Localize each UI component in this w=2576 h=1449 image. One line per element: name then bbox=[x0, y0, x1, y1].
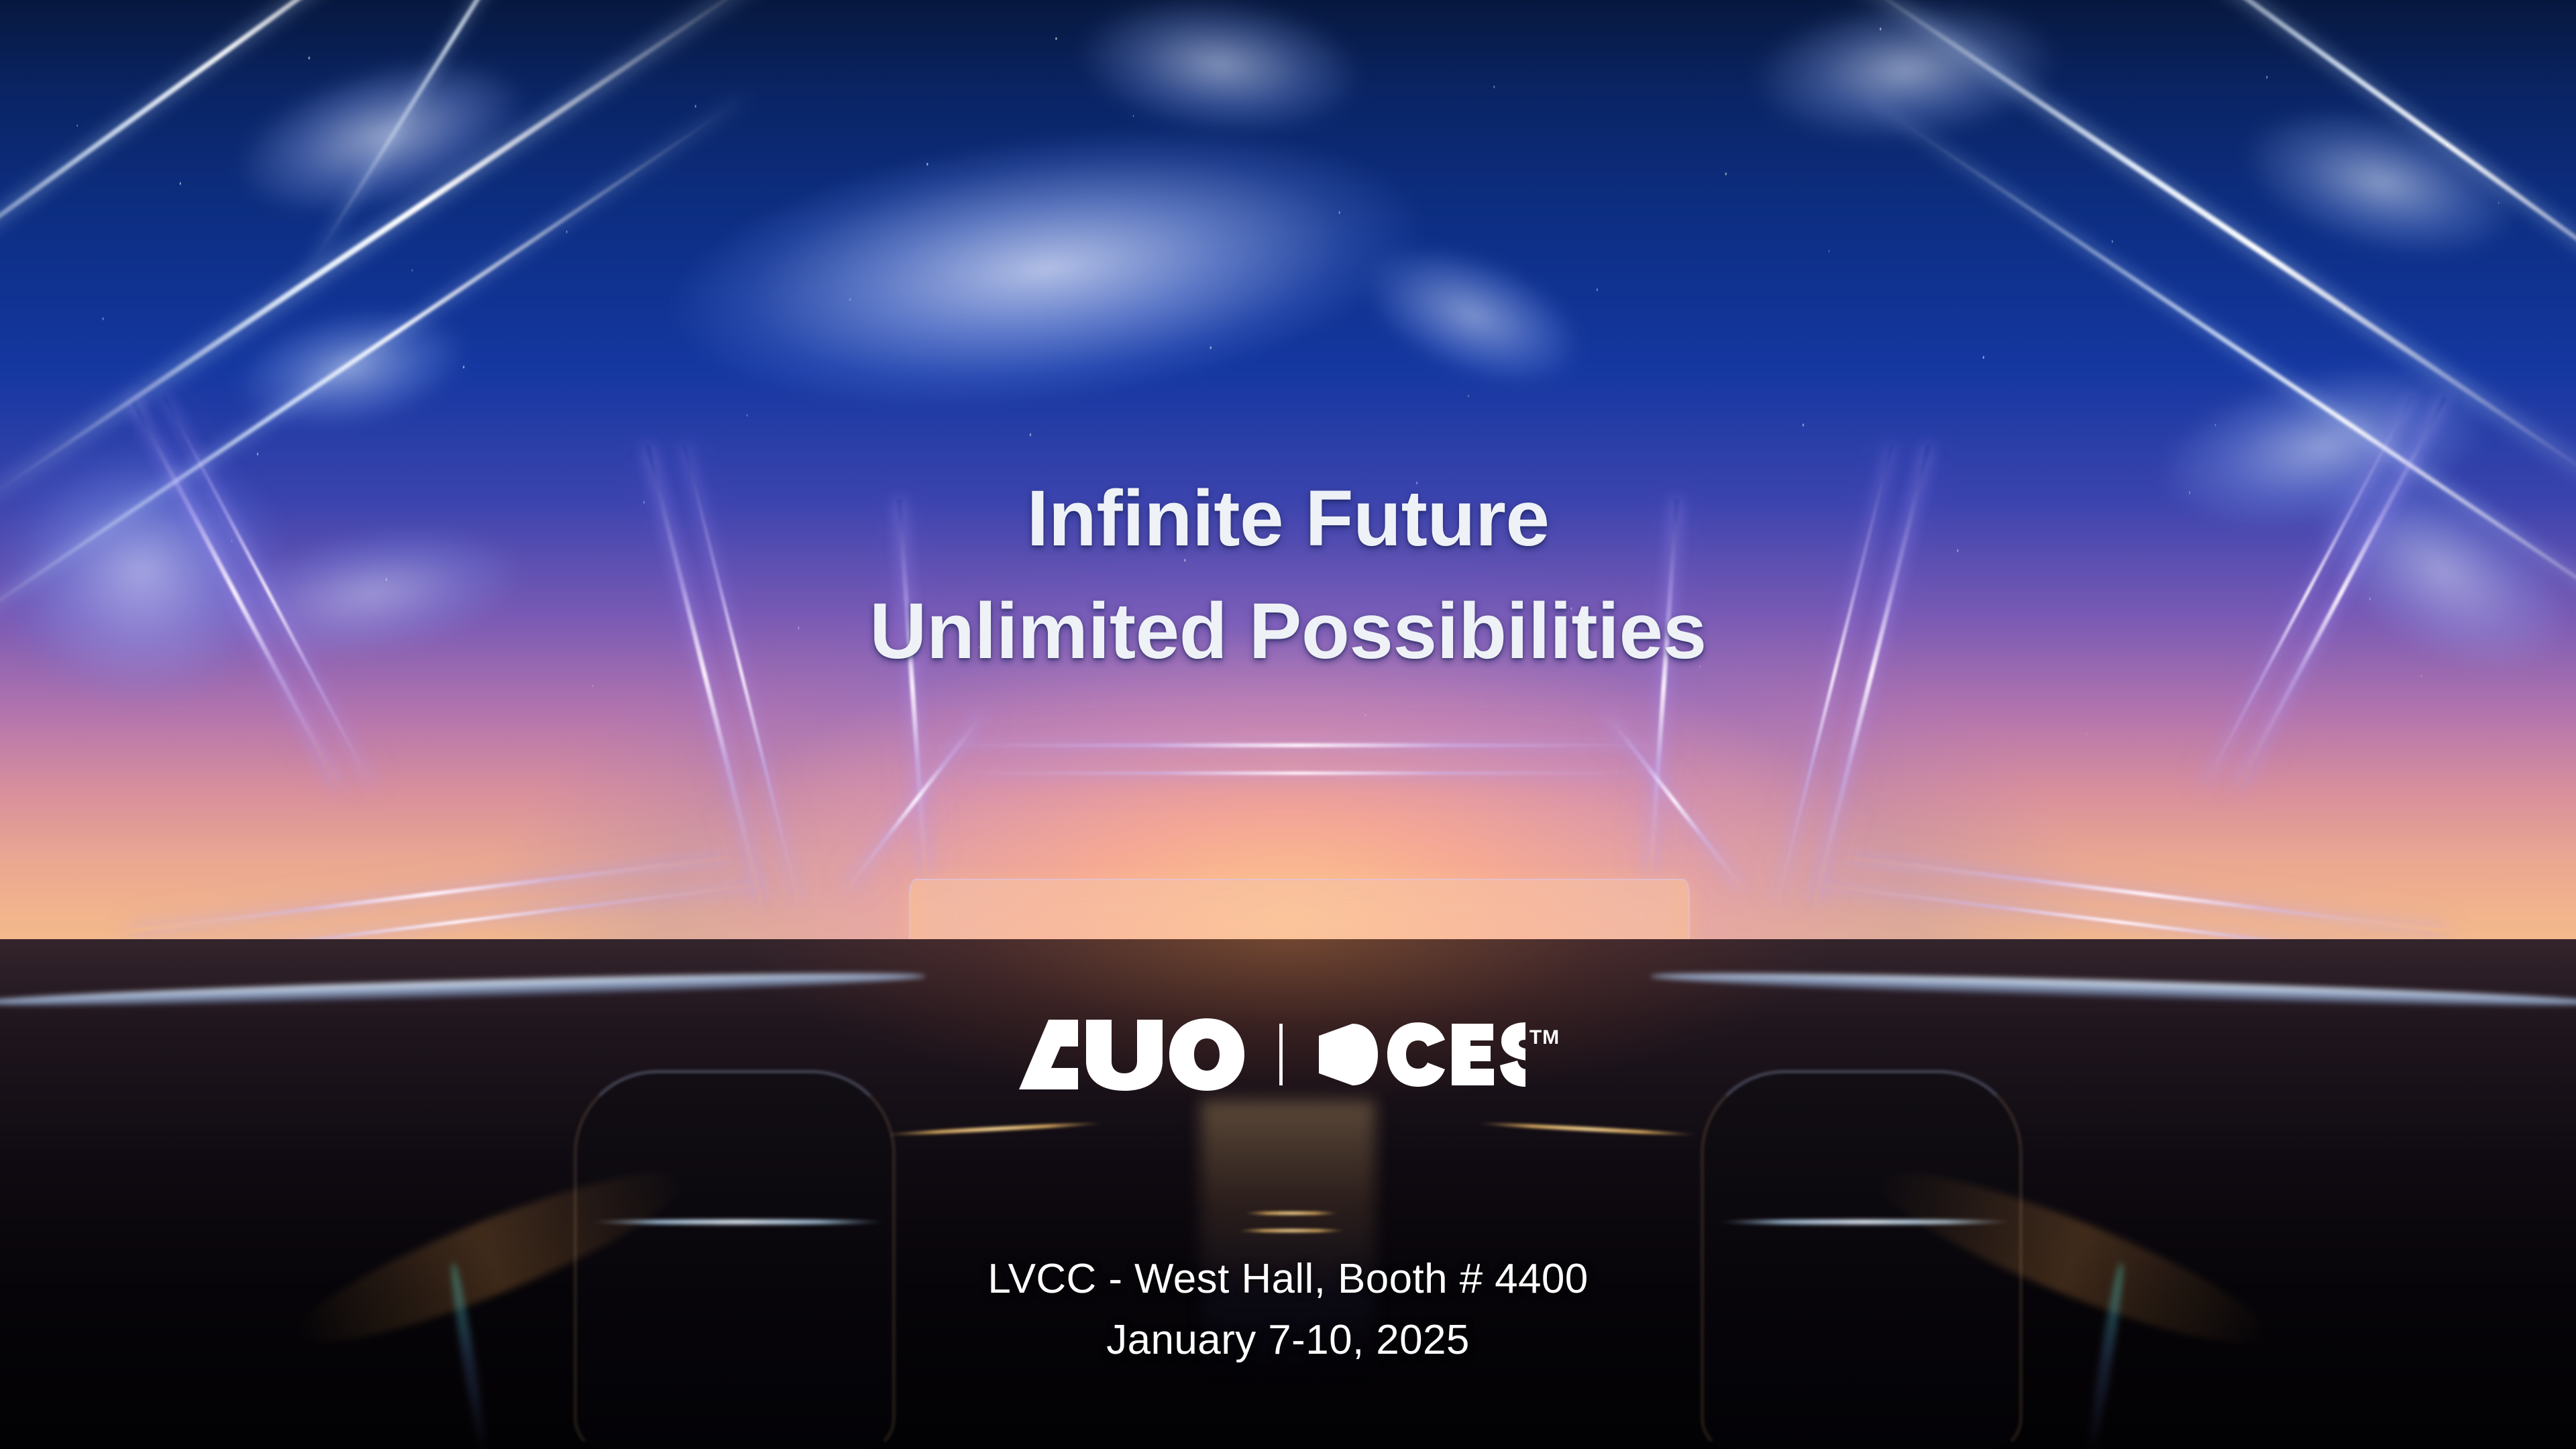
seat-headrest-right-rim bbox=[1717, 1220, 2012, 1224]
promo-banner: Infinite Future Unlimited Possibilities bbox=[0, 0, 2576, 1449]
seat-headrest-left-rim bbox=[590, 1220, 885, 1224]
console-accent-line-2 bbox=[1238, 1229, 1345, 1232]
console-accent-line-1 bbox=[1244, 1212, 1338, 1215]
ces-mark-icon bbox=[1318, 1022, 1525, 1087]
logo-divider bbox=[1279, 1024, 1283, 1085]
headline-line-2: Unlimited Possibilities bbox=[0, 576, 2576, 688]
footer-venue-line: LVCC - West Hall, Booth # 4400 bbox=[0, 1249, 2576, 1310]
footer-date-line: January 7-10, 2025 bbox=[0, 1310, 2576, 1371]
footer: LVCC - West Hall, Booth # 4400 January 7… bbox=[0, 1249, 2576, 1371]
headline: Infinite Future Unlimited Possibilities bbox=[0, 463, 2576, 688]
ces-trademark-symbol: TM bbox=[1529, 1026, 1560, 1049]
auo-logo bbox=[1016, 1018, 1244, 1091]
ces-logo: TM bbox=[1318, 1022, 1560, 1087]
logo-row: TM bbox=[0, 1018, 2576, 1091]
headline-line-1: Infinite Future bbox=[0, 463, 2576, 576]
